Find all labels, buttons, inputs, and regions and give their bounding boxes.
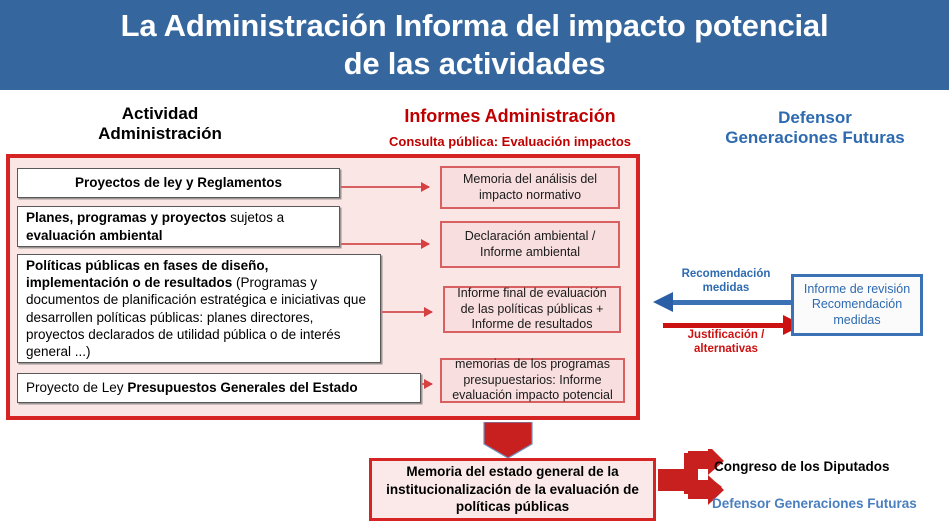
- heading-actividad-line1: Actividad: [122, 104, 199, 123]
- connector-arrow-4-icon: [422, 383, 432, 385]
- title-bar: La Administración Informa del impacto po…: [0, 0, 949, 90]
- activity-box-politicas-publicas[interactable]: Políticas públicas en fases de diseño, i…: [17, 254, 381, 363]
- report-box-memorias-programas[interactable]: memorias de los programas presupuestario…: [440, 358, 625, 403]
- label-defensor-generaciones-futuras: Defensor Generaciones Futuras: [712, 496, 917, 511]
- column-subheading-consulta-publica: Consulta pública: Evaluación impactos: [350, 134, 670, 150]
- report-box-informe-revision[interactable]: Informe de revisión Recomendación medida…: [791, 274, 923, 336]
- activity-box-proyectos-ley[interactable]: Proyectos de ley y Reglamentos: [17, 168, 340, 198]
- connector-arrow-2-icon: [341, 243, 429, 245]
- column-heading-defensor: Defensor Generaciones Futuras: [690, 108, 940, 149]
- activity-box-planes-programas-label: Planes, programas y proyectos sujetos a …: [26, 209, 331, 244]
- label-recomendacion-medidas: Recomendación medidas: [662, 268, 790, 296]
- activity-box-planes-programas[interactable]: Planes, programas y proyectos sujetos a …: [17, 206, 340, 247]
- heading-defensor-line2: Generaciones Futuras: [725, 128, 905, 147]
- slide-canvas: La Administración Informa del impacto po…: [0, 0, 949, 527]
- column-heading-actividad: Actividad Administración: [55, 104, 265, 145]
- label-congreso-diputados: Congreso de los Diputados: [714, 459, 890, 474]
- report-box-informe-final[interactable]: Informe final de evaluación de las polít…: [443, 286, 621, 333]
- activity-box-proyectos-ley-label: Proyectos de ley y Reglamentos: [26, 174, 331, 191]
- memoria-estado-general-box[interactable]: Memoria del estado general de la institu…: [369, 458, 656, 521]
- connector-arrow-3-icon: [382, 311, 432, 313]
- arrow-left-recomendacion-icon: [673, 300, 793, 305]
- down-block-arrow-icon: [482, 422, 534, 458]
- page-title-line1: La Administración Informa del impacto po…: [121, 8, 829, 43]
- column-heading-informes: Informes Administración: [355, 106, 665, 128]
- activity-box-politicas-publicas-label: Políticas públicas en fases de diseño, i…: [26, 257, 372, 361]
- label-justificacion-alternativas: Justificación / alternativas: [662, 329, 790, 357]
- heading-actividad-line2: Administración: [98, 124, 222, 143]
- connector-arrow-1-icon: [341, 186, 429, 188]
- report-box-declaracion-ambiental[interactable]: Declaración ambiental / Informe ambienta…: [440, 221, 620, 268]
- report-box-memoria-analisis[interactable]: Memoria del análisis del impacto normati…: [440, 166, 620, 209]
- page-title-line2: de las actividades: [344, 46, 606, 81]
- page-title: La Administración Informa del impacto po…: [107, 7, 843, 83]
- heading-defensor-line1: Defensor: [778, 108, 852, 127]
- arrow-right-justificacion-icon: [663, 323, 783, 328]
- activity-box-presupuestos[interactable]: Proyecto de Ley Presupuestos Generales d…: [17, 373, 421, 403]
- activity-box-presupuestos-label: Proyecto de Ley Presupuestos Generales d…: [26, 379, 412, 396]
